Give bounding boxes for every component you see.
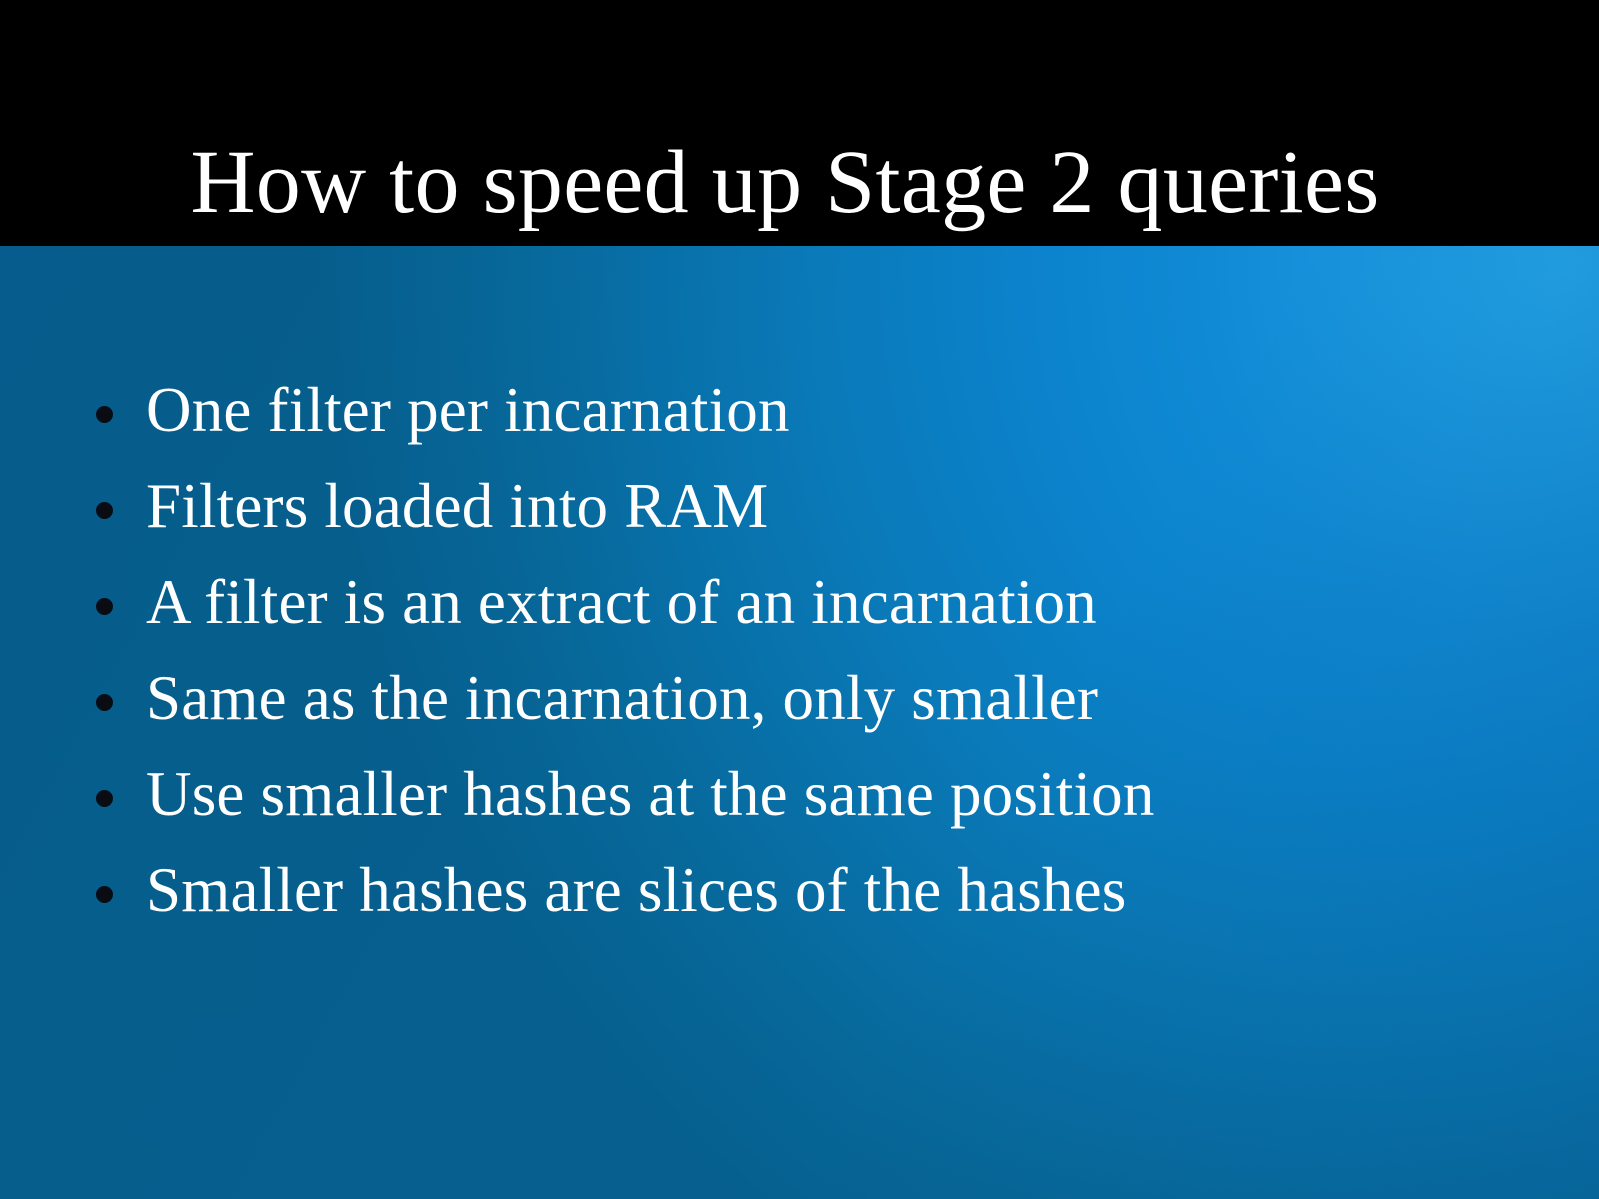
slide-title: How to speed up Stage 2 queries: [0, 60, 1570, 306]
bullet-list-item: One filter per incarnation: [96, 364, 1536, 460]
bullet-list-item-label: Smaller hashes are slices of the hashes: [146, 859, 1127, 922]
bullet-dot-icon: [96, 790, 113, 807]
presentation-slide: How to speed up Stage 2 queries One filt…: [0, 0, 1599, 1199]
bullet-dot-icon: [96, 406, 113, 423]
bullet-list-item-label: Filters loaded into RAM: [146, 475, 768, 538]
bullet-list-item: Same as the incarnation, only smaller: [96, 652, 1536, 748]
bullet-list-item-label: Same as the incarnation, only smaller: [146, 667, 1098, 730]
bullet-dot-icon: [96, 886, 113, 903]
slide-title-bar: How to speed up Stage 2 queries: [0, 0, 1599, 246]
bullet-list-item-label: Use smaller hashes at the same position: [146, 763, 1155, 826]
bullet-list-item: Use smaller hashes at the same position: [96, 748, 1536, 844]
slide-bullet-list: One filter per incarnation Filters loade…: [0, 246, 1599, 1199]
bullet-list-item-label: One filter per incarnation: [146, 379, 790, 442]
bullet-list-item: Smaller hashes are slices of the hashes: [96, 844, 1536, 940]
bullet-dot-icon: [96, 598, 113, 615]
bullet-list-item: A filter is an extract of an incarnation: [96, 556, 1536, 652]
bullet-dot-icon: [96, 502, 113, 519]
bullet-list-item-label: A filter is an extract of an incarnation: [146, 571, 1097, 634]
bullet-list-item: Filters loaded into RAM: [96, 460, 1536, 556]
bullet-dot-icon: [96, 694, 113, 711]
